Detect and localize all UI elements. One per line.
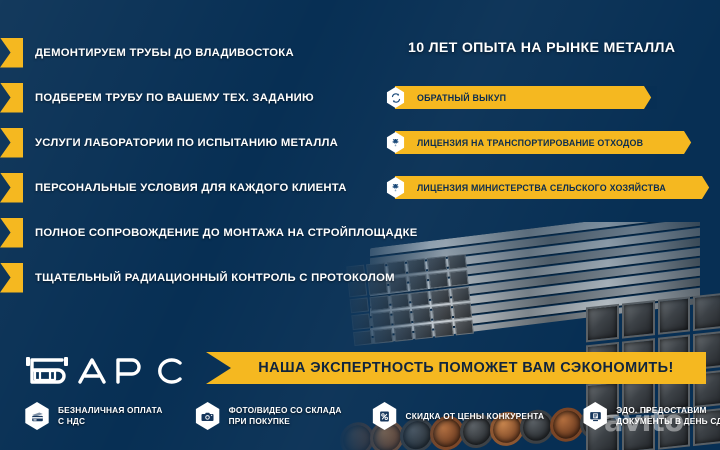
- bottom-feature-line1: ФОТО/ВИДЕО СО СКЛАДА: [229, 405, 342, 416]
- bottom-feature-line2: ПРИ ПОКУПКЕ: [229, 416, 342, 427]
- promo-banner: НАША ЭКСПЕРТНОСТЬ ПОМОЖЕТ ВАМ СЭКОНОМИТЬ…: [206, 352, 706, 384]
- bottom-feature-line1: ЭДО. ПРЕДОСТАВИМ: [616, 405, 720, 416]
- bottom-feature-label: СКИДКА ОТ ЦЕНЫ КОНКУРЕНТА: [406, 411, 545, 422]
- badge-item: ЛИЦЕНЗИЯ МИНИСТЕРСТВА СЕЛЬСКОГО ХОЗЯЙСТВ…: [386, 176, 666, 199]
- bottom-feature-line1: СКИДКА ОТ ЦЕНЫ КОНКУРЕНТА: [406, 411, 545, 422]
- banner-canvas: ДЕМОНТИРУЕМ ТРУБЫ ДО ВЛАДИВОСТОКА ПОДБЕР…: [0, 0, 720, 450]
- ribbon-bullet-icon: [0, 173, 23, 203]
- bottom-feature-row: БЕЗНАЛИЧНАЯ ОПЛАТА С НДС ФОТО/ВИДЕО СО С…: [24, 402, 714, 444]
- credit-card-icon: [24, 402, 50, 430]
- feature-item: ТЩАТЕЛЬНЫЙ РАДИАЦИОННЫЙ КОНТРОЛЬ С ПРОТО…: [0, 255, 400, 300]
- bottom-feature-item: СКИДКА ОТ ЦЕНЫ КОНКУРЕНТА: [372, 402, 545, 430]
- ribbon-bullet-icon: [0, 218, 23, 248]
- feature-item: ПОДБЕРЕМ ТРУБУ ПО ВАШЕМУ ТЕХ. ЗАДАНИЮ: [0, 75, 400, 120]
- bottom-feature-label: БЕЗНАЛИЧНАЯ ОПЛАТА С НДС: [58, 405, 163, 427]
- feature-label: ДЕМОНТИРУЕМ ТРУБЫ ДО ВЛАДИВОСТОКА: [35, 47, 294, 59]
- bottom-feature-item: БЕЗНАЛИЧНАЯ ОПЛАТА С НДС: [24, 402, 163, 430]
- bottom-feature-label: ФОТО/ВИДЕО СО СКЛАДА ПРИ ПОКУПКЕ: [229, 405, 342, 427]
- left-feature-list: ДЕМОНТИРУЕМ ТРУБЫ ДО ВЛАДИВОСТОКА ПОДБЕР…: [0, 30, 400, 300]
- bottom-feature-item: ЭДО. ПРЕДОСТАВИМ ДОКУМЕНТЫ В ДЕНЬ СДЕЛКИ: [582, 402, 720, 430]
- feature-item: ПЕРСОНАЛЬНЫЕ УСЛОВИЯ ДЛЯ КАЖДОГО КЛИЕНТА: [0, 165, 400, 210]
- document-monitor-icon: [582, 402, 608, 430]
- badge-label: ОБРАТНЫЙ ВЫКУП: [417, 93, 506, 103]
- ribbon-bullet-icon: [0, 263, 23, 293]
- feature-item: ПОЛНОЕ СОПРОВОЖДЕНИЕ ДО МОНТАЖА НА СТРОЙ…: [0, 210, 400, 255]
- feature-label: УСЛУГИ ЛАБОРАТОРИИ ПО ИСПЫТАНИЮ МЕТАЛЛА: [35, 137, 338, 149]
- price-tag-icon: [372, 402, 398, 430]
- feature-label: ПЕРСОНАЛЬНЫЕ УСЛОВИЯ ДЛЯ КАЖДОГО КЛИЕНТА: [35, 182, 347, 194]
- bottom-feature-line2: ДОКУМЕНТЫ В ДЕНЬ СДЕЛКИ: [616, 416, 720, 427]
- bottom-feature-label: ЭДО. ПРЕДОСТАВИМ ДОКУМЕНТЫ В ДЕНЬ СДЕЛКИ: [616, 405, 720, 427]
- badge-list: ОБРАТНЫЙ ВЫКУП ЛИЦЕНЗИЯ НА ТРАНСПОРТИРОВ…: [386, 86, 666, 221]
- feature-item: ДЕМОНТИРУЕМ ТРУБЫ ДО ВЛАДИВОСТОКА: [0, 30, 400, 75]
- badge-label: ЛИЦЕНЗИЯ МИНИСТЕРСТВА СЕЛЬСКОГО ХОЗЯЙСТВ…: [417, 183, 666, 193]
- feature-label: ПОДБЕРЕМ ТРУБУ ПО ВАШЕМУ ТЕХ. ЗАДАНИЮ: [35, 92, 314, 104]
- ribbon-bullet-icon: [0, 128, 23, 158]
- ribbon-bullet-icon: [0, 83, 23, 113]
- badge-item: ЛИЦЕНЗИЯ НА ТРАНСПОРТИРОВАНИЕ ОТХОДОВ: [386, 131, 666, 154]
- bottom-feature-line2: С НДС: [58, 416, 163, 427]
- feature-label: ПОЛНОЕ СОПРОВОЖДЕНИЕ ДО МОНТАЖА НА СТРОЙ…: [35, 227, 418, 239]
- headline-text: 10 ЛЕТ ОПЫТА НА РЫНКЕ МЕТАЛЛА: [408, 40, 675, 56]
- badge-item: ОБРАТНЫЙ ВЫКУП: [386, 86, 666, 109]
- feature-label: ТЩАТЕЛЬНЫЙ РАДИАЦИОННЫЙ КОНТРОЛЬ С ПРОТО…: [35, 272, 395, 284]
- camera-icon: [195, 402, 221, 430]
- bottom-feature-line1: БЕЗНАЛИЧНАЯ ОПЛАТА: [58, 405, 163, 416]
- bars-logo[interactable]: [18, 350, 193, 392]
- bottom-feature-item: ФОТО/ВИДЕО СО СКЛАДА ПРИ ПОКУПКЕ: [195, 402, 342, 430]
- ribbon-bullet-icon: [0, 38, 23, 68]
- promo-banner-text: НАША ЭКСПЕРТНОСТЬ ПОМОЖЕТ ВАМ СЭКОНОМИТЬ…: [238, 360, 673, 376]
- feature-item: УСЛУГИ ЛАБОРАТОРИИ ПО ИСПЫТАНИЮ МЕТАЛЛА: [0, 120, 400, 165]
- badge-label: ЛИЦЕНЗИЯ НА ТРАНСПОРТИРОВАНИЕ ОТХОДОВ: [417, 138, 643, 148]
